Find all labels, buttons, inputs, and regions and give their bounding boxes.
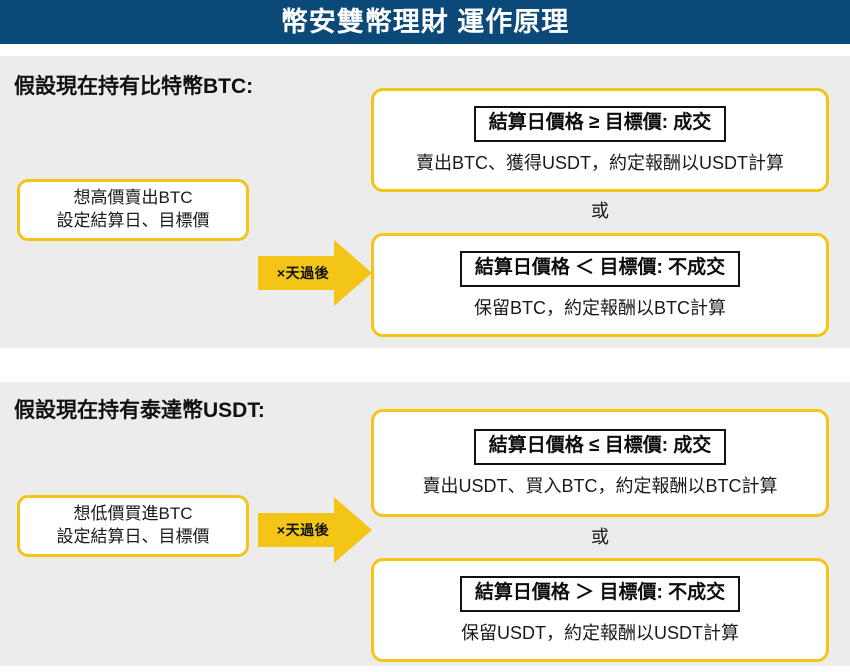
flow-arrow-label-usdt: ×天過後 [264, 497, 342, 563]
flow-arrow-btc: ×天過後 [258, 240, 372, 306]
source-box-usdt: 想低價買進BTC 設定結算日、目標價 [17, 495, 249, 557]
outcome-box-usdt-not-exercised: 結算日價格 ＞ 目標價: 不成交 保留USDT，約定報酬以USDT計算 [371, 558, 829, 662]
outcome-detail-usdt-not-exercised: 保留USDT，約定報酬以USDT計算 [461, 623, 739, 645]
outcome-detail-btc-not-exercised: 保留BTC，約定報酬以BTC計算 [474, 298, 726, 320]
section-heading-btc: 假設現在持有比特幣BTC: [14, 76, 253, 97]
outcome-condition-usdt-exercised: 結算日價格 ≤ 目標價: 成交 [474, 429, 727, 465]
flow-arrow-usdt: ×天過後 [258, 497, 372, 563]
flow-arrow-label-btc: ×天過後 [264, 240, 342, 306]
outcome-condition-btc-not-exercised: 結算日價格 ＜ 目標價: 不成交 [460, 251, 740, 287]
outcome-box-btc-exercised: 結算日價格 ≥ 目標價: 成交 賣出BTC、獲得USDT，約定報酬以USDT計算 [371, 88, 829, 192]
source-box-line-2: 設定結算日、目標價 [57, 209, 210, 232]
source-box-btc: 想高價賣出BTC 設定結算日、目標價 [17, 179, 249, 241]
source-box-line-2: 設定結算日、目標價 [57, 525, 210, 548]
section-panel-usdt: 假設現在持有泰達幣USDT: 想低價買進BTC 設定結算日、目標價 ×天過後 結… [0, 382, 850, 666]
outcome-box-btc-not-exercised: 結算日價格 ＜ 目標價: 不成交 保留BTC，約定報酬以BTC計算 [371, 233, 829, 337]
page-title: 幣安雙幣理財 運作原理 [281, 9, 570, 36]
outcome-connector-btc: 或 [371, 202, 829, 220]
outcome-box-usdt-exercised: 結算日價格 ≤ 目標價: 成交 賣出USDT、買入BTC，約定報酬以BTC計算 [371, 409, 829, 517]
outcome-condition-usdt-not-exercised: 結算日價格 ＞ 目標價: 不成交 [460, 576, 740, 612]
section-panel-btc: 假設現在持有比特幣BTC: 想高價賣出BTC 設定結算日、目標價 ×天過後 結算… [0, 56, 850, 348]
outcome-detail-usdt-exercised: 賣出USDT、買入BTC，約定報酬以BTC計算 [423, 476, 778, 498]
section-heading-usdt: 假設現在持有泰達幣USDT: [14, 400, 265, 421]
outcome-detail-btc-exercised: 賣出BTC、獲得USDT，約定報酬以USDT計算 [416, 153, 784, 175]
source-box-line-1: 想低價買進BTC [74, 502, 193, 525]
outcome-connector-usdt: 或 [371, 528, 829, 546]
source-box-line-1: 想高價賣出BTC [74, 186, 193, 209]
outcome-condition-btc-exercised: 結算日價格 ≥ 目標價: 成交 [474, 106, 727, 142]
page-title-bar: 幣安雙幣理財 運作原理 [0, 0, 850, 44]
